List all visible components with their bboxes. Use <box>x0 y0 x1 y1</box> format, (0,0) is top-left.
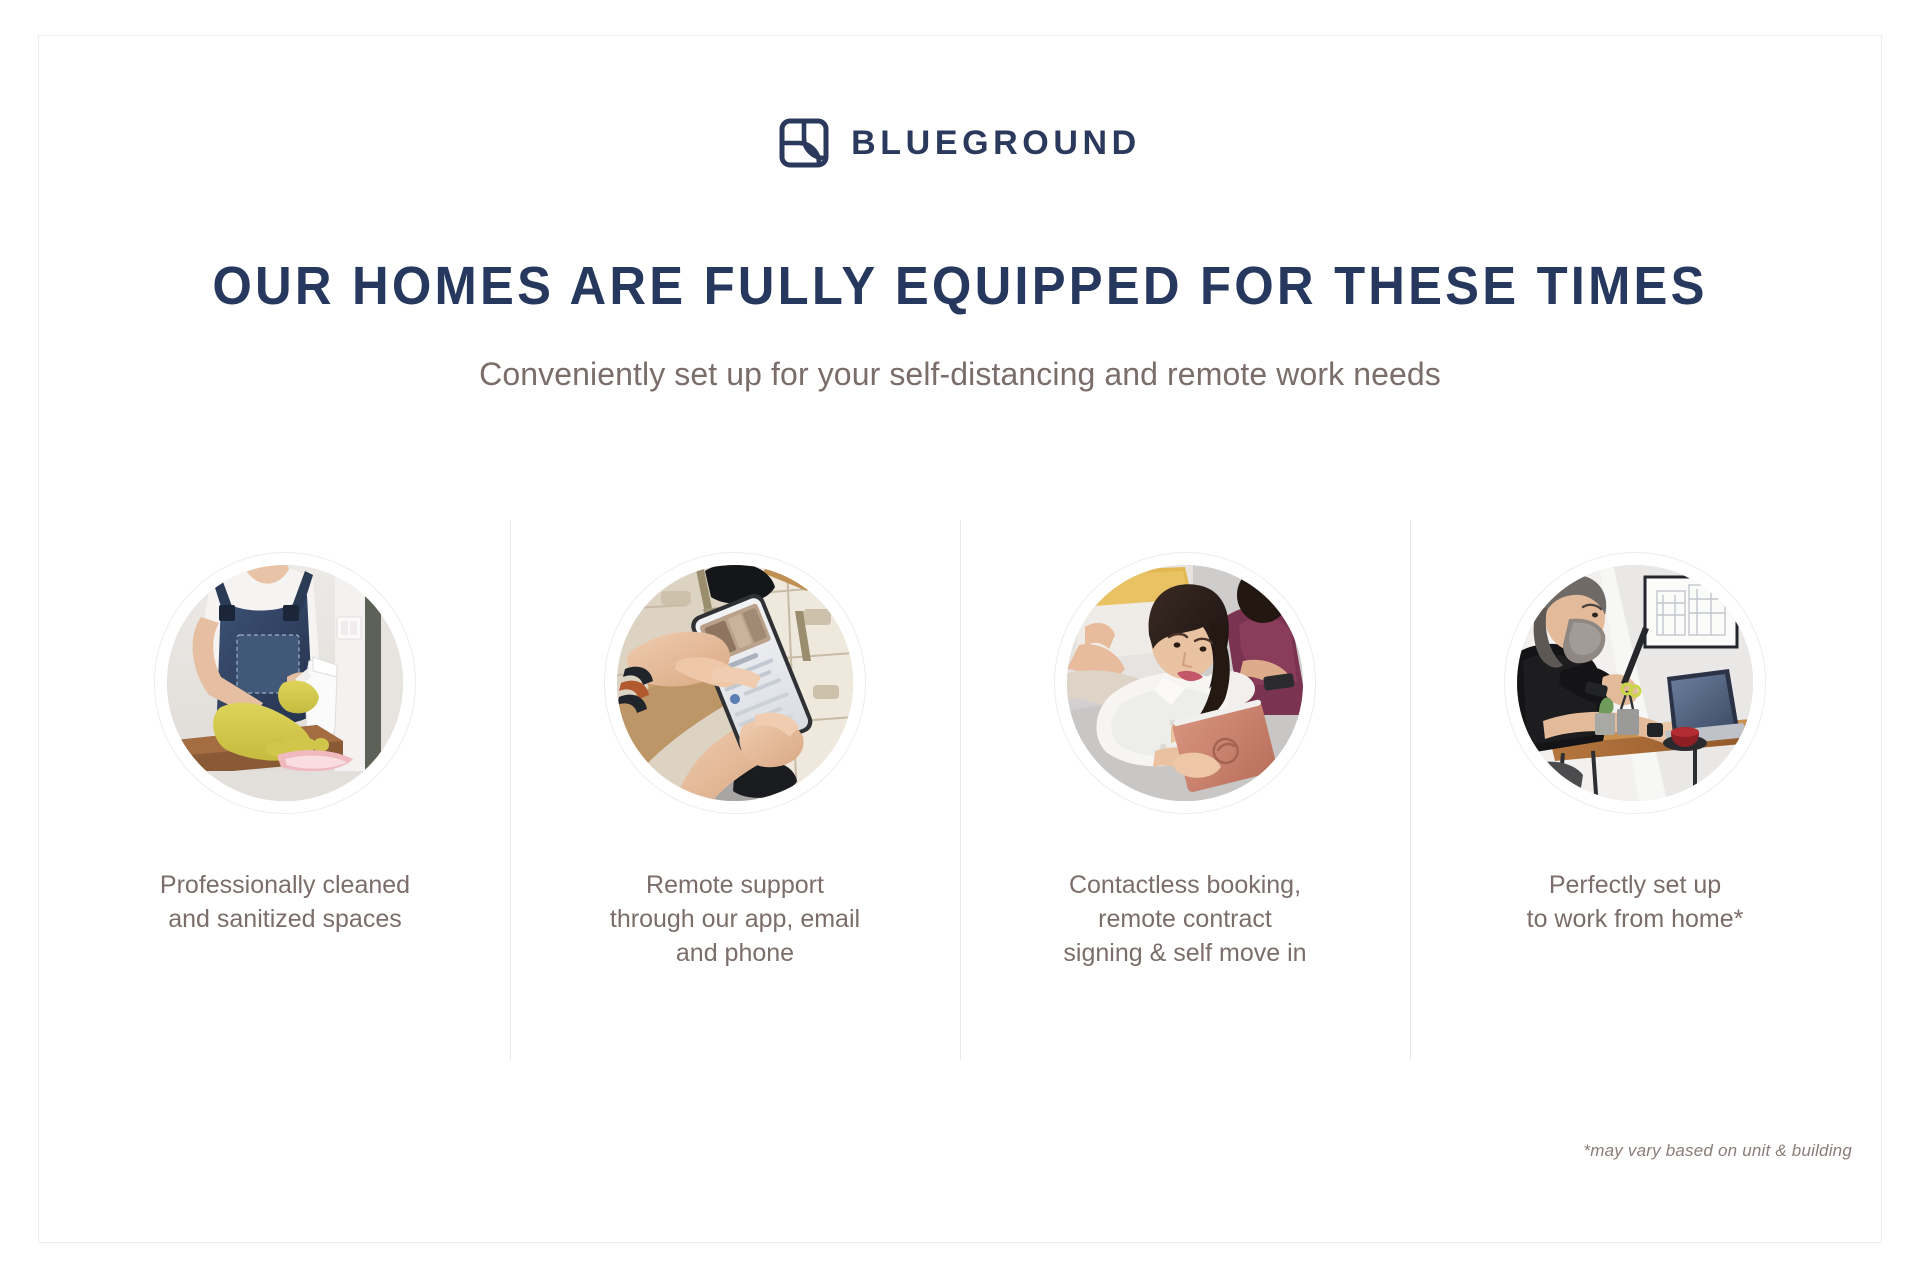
feature-photo-wrap <box>604 552 866 814</box>
feature-caption: Perfectly set up to work from home* <box>1527 868 1744 936</box>
feature-item-remote-support: Remote support through our app, email an… <box>510 520 960 1060</box>
photo-remote-support-phone <box>617 565 853 801</box>
brand-wordmark: BLUEGROUND <box>851 126 1141 160</box>
feature-list: Professionally cleaned and sanitized spa… <box>60 520 1860 1060</box>
footnote-disclaimer: *may vary based on unit & building <box>1583 1141 1852 1161</box>
feature-photo-wrap <box>154 552 416 814</box>
photo-cleaning-sanitizing <box>167 565 403 801</box>
feature-item-work-from-home: Perfectly set up to work from home* <box>1410 520 1860 1060</box>
feature-photo-wrap <box>1054 552 1316 814</box>
blueground-square-mark-icon <box>779 118 829 168</box>
photo-contactless-booking-tablet <box>1067 565 1303 801</box>
photo-work-from-home-desk <box>1517 565 1753 801</box>
feature-photo-wrap <box>1504 552 1766 814</box>
feature-caption: Contactless booking, remote contract sig… <box>1063 868 1306 970</box>
page-subtitle: Conveniently set up for your self-distan… <box>0 355 1920 393</box>
feature-caption: Remote support through our app, email an… <box>610 868 860 970</box>
page-title: OUR HOMES ARE FULLY EQUIPPED FOR THESE T… <box>58 258 1863 315</box>
feature-item-contactless-booking: Contactless booking, remote contract sig… <box>960 520 1410 1060</box>
brand-lockup: BLUEGROUND <box>0 118 1920 168</box>
feature-caption: Professionally cleaned and sanitized spa… <box>160 868 410 936</box>
feature-item-cleaning: Professionally cleaned and sanitized spa… <box>60 520 510 1060</box>
marketing-banner: BLUEGROUND OUR HOMES ARE FULLY EQUIPPED … <box>0 0 1920 1280</box>
